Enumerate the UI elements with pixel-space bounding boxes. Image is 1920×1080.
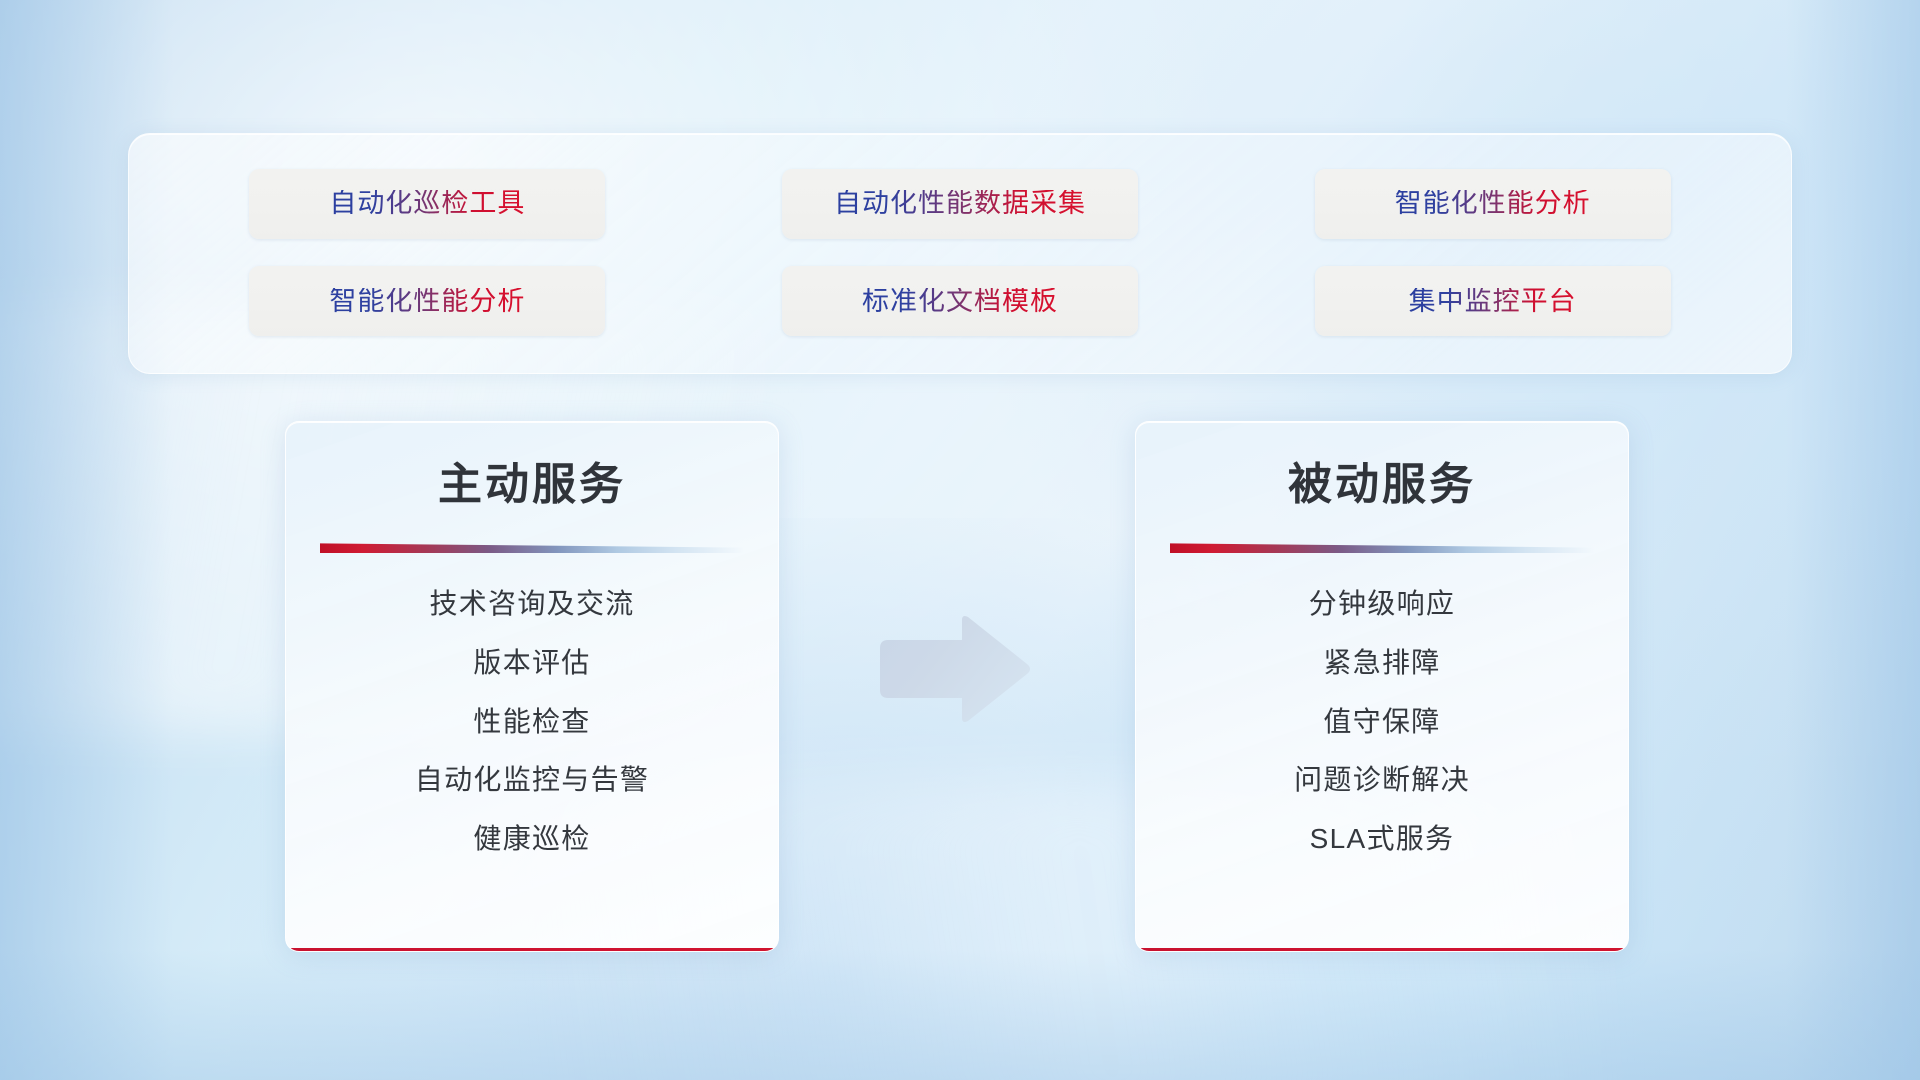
list-item: 问题诊断解决 (1294, 763, 1470, 797)
list-item: SLA式服务 (1310, 822, 1455, 856)
capability-chip-label: 智能化性能分析 (329, 288, 525, 315)
reactive-service-title: 被动服务 (1136, 461, 1628, 509)
capability-chip-label: 标准化文档模板 (862, 288, 1058, 315)
capability-chip-intelligent-performance-analysis-top[interactable]: 智能化性能分析 (1315, 169, 1671, 239)
proactive-divider (320, 543, 744, 553)
chip-cell: 标准化文档模板 (732, 260, 1189, 344)
chip-cell: 自动化巡检工具 (199, 162, 656, 246)
reactive-service-card: 被动服务 分钟级响应 紧急排障 值守保障 问题诊断解决 SLA式服务 (1135, 421, 1629, 952)
reactive-service-list: 分钟级响应 紧急排障 值守保障 问题诊断解决 SLA式服务 (1136, 587, 1628, 855)
capability-chip-label: 自动化性能数据采集 (834, 190, 1086, 217)
chip-cell: 集中监控平台 (1264, 260, 1721, 344)
list-item: 技术咨询及交流 (429, 587, 634, 621)
list-item: 性能检查 (473, 705, 590, 739)
list-item: 值守保障 (1323, 705, 1440, 739)
capability-chip-label: 智能化性能分析 (1395, 190, 1591, 217)
chip-cell: 自动化性能数据采集 (732, 162, 1189, 246)
list-item: 紧急排障 (1323, 646, 1440, 680)
background-edge-right (1786, 0, 1920, 1080)
list-item: 健康巡检 (473, 822, 590, 856)
capability-chip-centralized-monitoring-platform[interactable]: 集中监控平台 (1315, 266, 1671, 336)
list-item: 自动化监控与告警 (415, 763, 649, 797)
capability-chip-grid: 自动化巡检工具 自动化性能数据采集 智能化性能分析 智能化性能分析 标准化文档模… (129, 134, 1791, 373)
chip-cell: 智能化性能分析 (1264, 162, 1721, 246)
list-item: 版本评估 (473, 646, 590, 680)
reactive-divider (1170, 543, 1594, 553)
list-item: 分钟级响应 (1309, 587, 1456, 621)
capability-chip-automated-performance-data-collection[interactable]: 自动化性能数据采集 (782, 169, 1138, 239)
arrow-right-icon (874, 614, 1034, 724)
background-edge-bottom (0, 950, 1920, 1080)
proactive-service-card: 主动服务 技术咨询及交流 版本评估 性能检查 自动化监控与告警 健康巡检 (285, 421, 779, 952)
capability-chip-label: 自动化巡检工具 (329, 190, 525, 217)
proactive-service-list: 技术咨询及交流 版本评估 性能检查 自动化监控与告警 健康巡检 (286, 587, 778, 855)
divider-gradient-bar (320, 543, 744, 553)
divider-gradient-bar (1170, 543, 1594, 553)
capability-chip-standardized-document-template[interactable]: 标准化文档模板 (782, 266, 1138, 336)
capability-chip-intelligent-performance-analysis-bottom[interactable]: 智能化性能分析 (249, 266, 605, 336)
proactive-service-title: 主动服务 (286, 461, 778, 509)
capability-chip-automated-inspection-tool[interactable]: 自动化巡检工具 (249, 169, 605, 239)
chip-cell: 智能化性能分析 (199, 260, 656, 344)
capability-panel: 自动化巡检工具 自动化性能数据采集 智能化性能分析 智能化性能分析 标准化文档模… (128, 133, 1792, 374)
capability-chip-label: 集中监控平台 (1409, 288, 1577, 315)
